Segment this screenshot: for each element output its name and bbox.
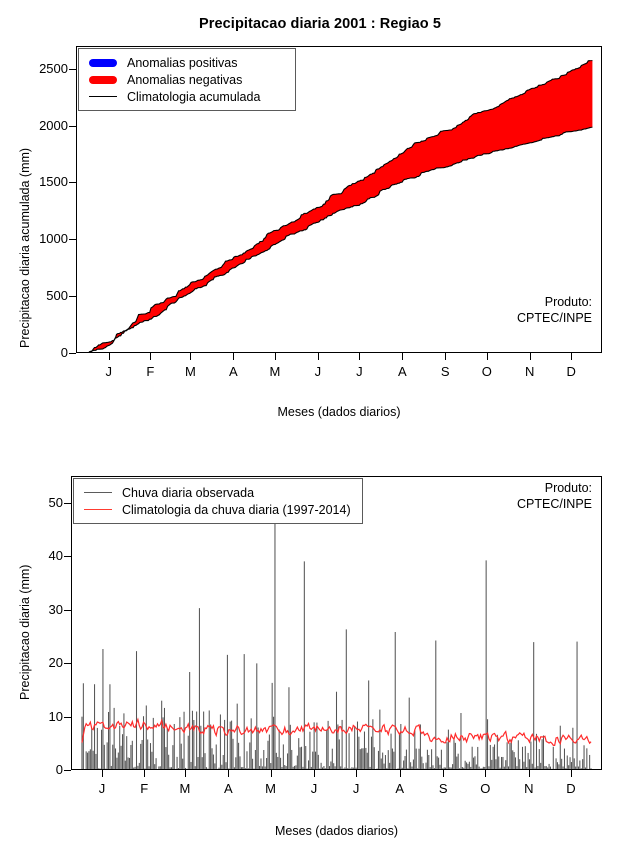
x-tick-mark: [190, 353, 191, 360]
black-line-icon: [86, 96, 120, 97]
x-tick-label: M: [178, 364, 202, 379]
x-tick-mark: [275, 353, 276, 360]
x-tick-label: M: [259, 781, 283, 796]
legend-label: Climatologia acumulada: [120, 90, 260, 104]
observed-daily-bars: [82, 488, 591, 769]
x-tick-mark: [359, 353, 360, 360]
y-tick-mark: [69, 296, 76, 297]
x-tick-label: A: [216, 781, 240, 796]
y-tick-label: 20: [19, 655, 63, 670]
source-note-line2: CPTEC/INPE: [398, 497, 592, 513]
x-tick-label: S: [431, 781, 455, 796]
x-tick-label: J: [97, 364, 121, 379]
x-tick-label: F: [132, 781, 156, 796]
y-tick-mark: [64, 717, 71, 718]
y-tick-mark: [69, 239, 76, 240]
legend-item-chuva-diaria-observada[interactable]: Chuva diaria observada: [81, 484, 354, 501]
x-tick-mark: [185, 770, 186, 777]
x-tick-mark: [150, 353, 151, 360]
y-tick-mark: [69, 182, 76, 183]
x-tick-mark: [102, 770, 103, 777]
x-tick-label: S: [433, 364, 457, 379]
legend-label: Anomalias negativas: [120, 73, 242, 87]
x-tick-label: N: [517, 781, 541, 796]
y-tick-mark: [69, 126, 76, 127]
y-tick-label: 500: [24, 288, 68, 303]
x-tick-mark: [529, 770, 530, 777]
bottom-panel-x-axis-label: Meses (dados diarios): [71, 824, 602, 838]
legend-label: Climatologia da chuva diaria (1997-2014): [115, 503, 351, 517]
y-tick-label: 40: [19, 548, 63, 563]
x-tick-label: N: [518, 364, 542, 379]
x-tick-mark: [314, 770, 315, 777]
x-tick-label: D: [559, 781, 583, 796]
x-tick-label: J: [347, 364, 371, 379]
legend-item-anomalias-negativas[interactable]: Anomalias negativas: [86, 71, 287, 88]
x-tick-mark: [487, 353, 488, 360]
x-tick-label: F: [138, 364, 162, 379]
x-tick-label: J: [302, 781, 326, 796]
x-tick-label: J: [306, 364, 330, 379]
chart-page: Precipitacao diaria 2001 : Regiao 5 Prec…: [0, 0, 640, 850]
y-tick-label: 30: [19, 602, 63, 617]
x-tick-mark: [571, 770, 572, 777]
x-tick-mark: [443, 770, 444, 777]
x-tick-mark: [402, 353, 403, 360]
y-tick-mark: [64, 610, 71, 611]
x-tick-mark: [318, 353, 319, 360]
x-tick-label: O: [473, 781, 497, 796]
y-tick-mark: [64, 503, 71, 504]
y-tick-label: 10: [19, 709, 63, 724]
red-line-icon: [81, 509, 115, 510]
x-tick-mark: [530, 353, 531, 360]
x-tick-mark: [571, 353, 572, 360]
y-tick-label: 2000: [24, 118, 68, 133]
top-panel-x-axis-label: Meses (dados diarios): [76, 405, 602, 419]
source-note-line1: Produto:: [398, 481, 592, 497]
y-tick-label: 2500: [24, 61, 68, 76]
x-tick-mark: [400, 770, 401, 777]
legend-item-climatologia-chuva-diaria[interactable]: Climatologia da chuva diaria (1997-2014): [81, 501, 354, 518]
source-note-line1: Produto:: [398, 295, 592, 311]
bottom-panel-legend: Chuva diaria observada Climatologia da c…: [73, 478, 363, 524]
red-bar-icon: [86, 76, 120, 84]
x-tick-label: A: [221, 364, 245, 379]
x-tick-label: M: [263, 364, 287, 379]
y-tick-mark: [64, 770, 71, 771]
x-tick-mark: [144, 770, 145, 777]
x-tick-label: J: [344, 781, 368, 796]
y-tick-label: 0: [19, 762, 63, 777]
legend-label: Anomalias positivas: [120, 56, 237, 70]
x-tick-mark: [228, 770, 229, 777]
y-tick-mark: [69, 353, 76, 354]
x-tick-label: M: [173, 781, 197, 796]
top-panel-legend: Anomalias positivas Anomalias negativas …: [78, 48, 296, 111]
x-tick-mark: [233, 353, 234, 360]
x-tick-label: A: [388, 781, 412, 796]
x-tick-label: O: [475, 364, 499, 379]
x-tick-mark: [109, 353, 110, 360]
x-tick-mark: [356, 770, 357, 777]
legend-item-climatologia-acumulada[interactable]: Climatologia acumulada: [86, 88, 287, 105]
x-tick-mark: [271, 770, 272, 777]
x-tick-label: A: [390, 364, 414, 379]
gray-line-icon: [81, 492, 115, 493]
y-tick-label: 0: [24, 345, 68, 360]
source-note-line2: CPTEC/INPE: [398, 311, 592, 327]
legend-item-anomalias-positivas[interactable]: Anomalias positivas: [86, 54, 287, 71]
page-title: Precipitacao diaria 2001 : Regiao 5: [0, 16, 640, 32]
y-tick-label: 1000: [24, 231, 68, 246]
x-tick-label: J: [90, 781, 114, 796]
bottom-panel-y-axis-label: Precipitacao diaria (mm): [18, 565, 32, 700]
x-tick-label: D: [559, 364, 583, 379]
top-panel-source-note: Produto: CPTEC/INPE: [398, 295, 592, 326]
bottom-panel-source-note: Produto: CPTEC/INPE: [398, 481, 592, 512]
legend-label: Chuva diaria observada: [115, 486, 254, 500]
y-tick-label: 1500: [24, 174, 68, 189]
y-tick-label: 50: [19, 495, 63, 510]
x-tick-mark: [485, 770, 486, 777]
y-tick-mark: [64, 663, 71, 664]
y-tick-mark: [69, 69, 76, 70]
y-tick-mark: [64, 556, 71, 557]
blue-bar-icon: [86, 59, 120, 67]
x-tick-mark: [445, 353, 446, 360]
